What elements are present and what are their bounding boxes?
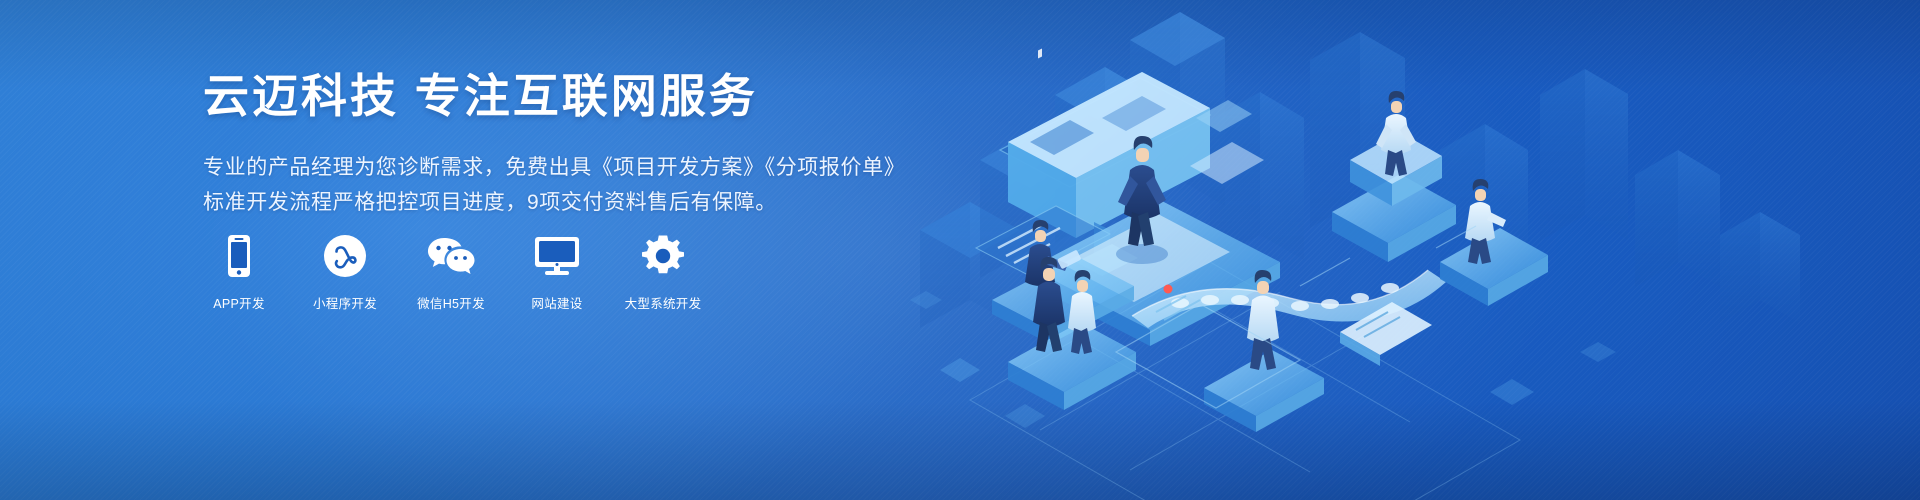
service-item-mini-program[interactable]: 小程序开发 bbox=[309, 232, 381, 312]
service-label: 小程序开发 bbox=[313, 293, 377, 312]
service-list: APP开发 小程序开发 微信 bbox=[203, 232, 699, 312]
service-label: 微信H5开发 bbox=[417, 293, 485, 312]
mobile-phone-icon bbox=[215, 232, 263, 280]
illustration-isometric-scene bbox=[880, 0, 1920, 500]
service-item-wechat-h5[interactable]: 微信H5开发 bbox=[415, 232, 487, 312]
monitor-icon bbox=[533, 232, 581, 280]
subtitle-line-1: 专业的产品经理为您诊断需求，免费出具《项目开发方案》《分项报价单》 bbox=[203, 150, 903, 185]
service-item-app[interactable]: APP开发 bbox=[203, 232, 275, 312]
service-item-large-system[interactable]: 大型系统开发 bbox=[627, 232, 699, 312]
wechat-icon bbox=[427, 232, 475, 280]
mini-program-icon bbox=[321, 232, 369, 280]
service-label: APP开发 bbox=[213, 293, 265, 312]
service-item-website[interactable]: 网站建设 bbox=[521, 232, 593, 312]
service-label: 大型系统开发 bbox=[625, 293, 702, 312]
hero-banner: 云迈科技 专注互联网服务 专业的产品经理为您诊断需求，免费出具《项目开发方案》《… bbox=[0, 0, 1920, 500]
banner-copy: 云迈科技 专注互联网服务 专业的产品经理为您诊断需求，免费出具《项目开发方案》《… bbox=[203, 68, 903, 220]
page-title: 云迈科技 专注互联网服务 bbox=[203, 68, 903, 126]
subtitle-line-2: 标准开发流程严格把控项目进度，9项交付资料售后有保障。 bbox=[203, 185, 903, 220]
service-label: 网站建设 bbox=[531, 293, 582, 312]
banner-subtitle: 专业的产品经理为您诊断需求，免费出具《项目开发方案》《分项报价单》 标准开发流程… bbox=[203, 150, 903, 221]
gear-icon bbox=[639, 232, 687, 280]
